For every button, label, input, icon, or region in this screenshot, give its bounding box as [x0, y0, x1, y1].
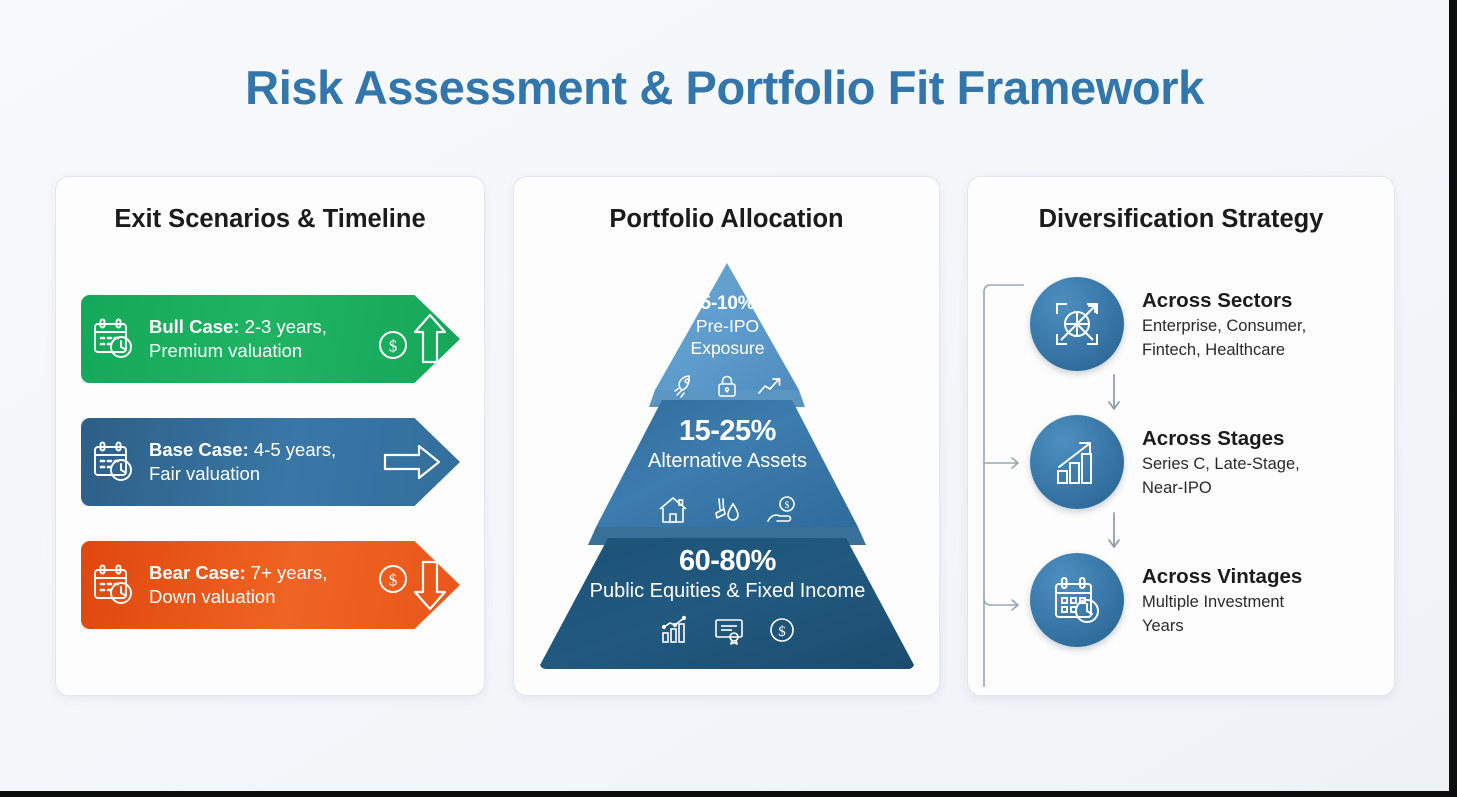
panel-heading-diversification: Diversification Strategy: [968, 205, 1394, 234]
diversification-line2-sectors: Fintech, Healthcare: [1142, 340, 1306, 361]
flow-connector: [968, 267, 1030, 687]
pyramid-tier-top-icons: [514, 373, 941, 399]
scenario-text-bear: Bear Case: 7+ years, Down valuation: [147, 561, 364, 609]
arrow-down-connector-2: [1106, 511, 1122, 555]
scenario-valuation-bear: Down valuation: [149, 585, 364, 609]
trend-up-icon: [756, 373, 784, 399]
dollar-circle-icon: $: [376, 562, 410, 608]
diversification-text-sectors: Across Sectors Enterprise, Consumer, Fin…: [1124, 277, 1306, 361]
diversification-item-sectors[interactable]: Across Sectors Enterprise, Consumer, Fin…: [1030, 277, 1306, 371]
panel-heading-exit-scenarios: Exit Scenarios & Timeline: [56, 205, 484, 234]
diversification-item-stages[interactable]: Across Stages Series C, Late-Stage, Near…: [1030, 415, 1300, 509]
scenario-label-bear: Bear Case:: [149, 562, 246, 583]
scenario-text-bull: Bull Case: 2-3 years, Premium valuation: [147, 315, 364, 363]
diversification-heading-sectors: Across Sectors: [1142, 288, 1306, 313]
hand-dollar-icon: $: [765, 495, 799, 525]
diversification-item-vintages[interactable]: Across Vintages Multiple Investment Year…: [1030, 553, 1302, 647]
calendar-clock-icon: [81, 438, 147, 486]
svg-text:$: $: [389, 571, 398, 590]
house-icon: [657, 495, 689, 525]
scenario-indicator-bear: $: [364, 558, 460, 612]
scenario-banner-base[interactable]: Base Case: 4-5 years, Fair valuation: [81, 418, 460, 506]
expand-target-icon: [1030, 277, 1124, 371]
scenario-indicator-base: [364, 442, 460, 482]
diversification-text-stages: Across Stages Series C, Late-Stage, Near…: [1124, 415, 1300, 499]
panel-portfolio-allocation: Portfolio Allocation: [513, 176, 940, 696]
slide-edge-right: [1449, 0, 1457, 797]
scenario-indicator-bull: $: [364, 312, 460, 366]
calendar-clock-icon: [1030, 553, 1124, 647]
certificate-icon: [713, 615, 745, 645]
calendar-clock-icon: [81, 315, 147, 363]
scenario-detail-bear: 7+ years,: [246, 562, 328, 583]
panel-heading-portfolio-allocation: Portfolio Allocation: [514, 205, 939, 234]
oil-drop-icon: [711, 495, 743, 525]
scenario-valuation-base: Fair valuation: [149, 462, 364, 486]
panel-exit-scenarios: Exit Scenarios & Timeline Bu: [55, 176, 485, 696]
svg-text:$: $: [389, 337, 398, 356]
slide-canvas: Risk Assessment & Portfolio Fit Framewor…: [0, 0, 1449, 791]
svg-text:$: $: [784, 500, 789, 510]
diversification-heading-stages: Across Stages: [1142, 426, 1300, 451]
allocation-pyramid: 5-10% Pre-IPO Exposure: [514, 255, 941, 675]
scenario-text-base: Base Case: 4-5 years, Fair valuation: [147, 438, 364, 486]
rocket-icon: [672, 373, 698, 399]
diversification-line2-vintages: Years: [1142, 616, 1302, 637]
diversification-line2-stages: Near-IPO: [1142, 478, 1300, 499]
diversification-heading-vintages: Across Vintages: [1142, 564, 1302, 589]
arrow-down-icon: [412, 558, 448, 612]
pyramid-tier-middle-icons: $: [514, 495, 941, 525]
scenario-valuation-bull: Premium valuation: [149, 339, 364, 363]
scenario-banner-bull[interactable]: Bull Case: 2-3 years, Premium valuation …: [81, 295, 460, 383]
scenario-label-bull: Bull Case:: [149, 316, 239, 337]
slide-edge-bottom: [0, 791, 1457, 797]
diversification-line1-stages: Series C, Late-Stage,: [1142, 454, 1300, 475]
diversification-text-vintages: Across Vintages Multiple Investment Year…: [1124, 553, 1302, 637]
growth-chart-icon: [1030, 415, 1124, 509]
calendar-clock-icon: [81, 561, 147, 609]
panel-diversification-strategy: Diversification Strategy: [967, 176, 1395, 696]
dollar-circle-icon: $: [767, 615, 797, 645]
scenario-detail-base: 4-5 years,: [249, 439, 336, 460]
pyramid-tier-bottom-icons: $: [514, 615, 941, 645]
arrow-up-icon: [412, 312, 448, 366]
scenario-banner-bear[interactable]: Bear Case: 7+ years, Down valuation $: [81, 541, 460, 629]
pyramid-shape: [514, 255, 941, 675]
svg-text:$: $: [778, 624, 786, 640]
page-title: Risk Assessment & Portfolio Fit Framewor…: [0, 60, 1449, 115]
scenario-label-base: Base Case:: [149, 439, 249, 460]
bar-chart-icon: [659, 615, 691, 645]
diversification-line1-vintages: Multiple Investment: [1142, 592, 1302, 613]
arrow-down-connector-1: [1106, 373, 1122, 417]
lock-icon: [714, 373, 740, 399]
arrow-right-icon: [381, 442, 443, 482]
diversification-line1-sectors: Enterprise, Consumer,: [1142, 316, 1306, 337]
scenario-detail-bull: 2-3 years,: [239, 316, 326, 337]
dollar-circle-icon: $: [376, 316, 410, 362]
